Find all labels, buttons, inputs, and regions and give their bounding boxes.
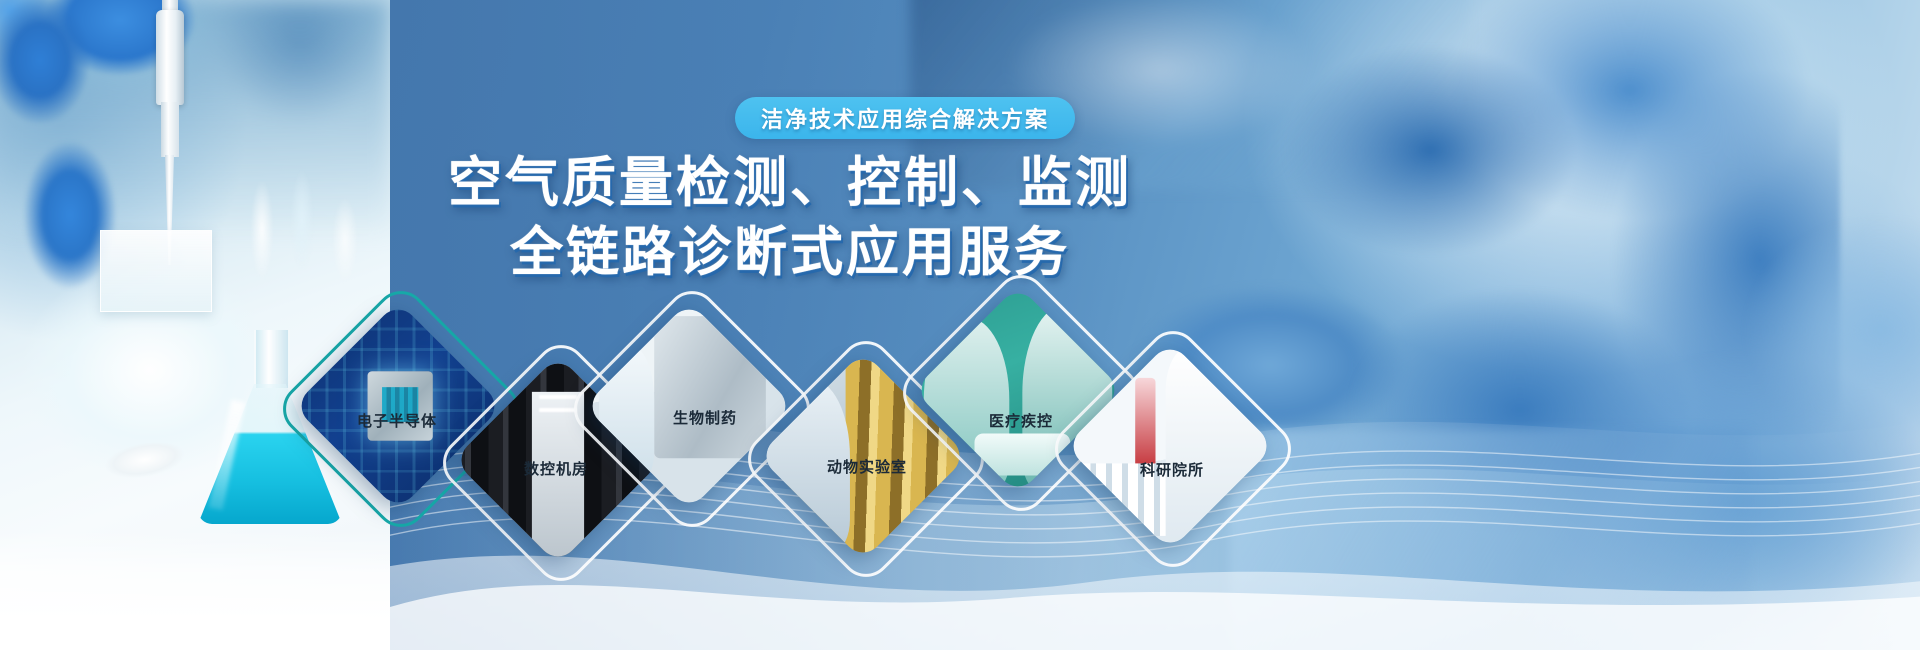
right-lab-photo	[390, 0, 1920, 650]
headline-block: 空气质量检测、控制、监测 全链路诊断式应用服务	[440, 148, 1140, 288]
subtitle-badge: 洁净技术应用综合解决方案	[735, 97, 1075, 139]
photo-vignette	[390, 0, 1920, 650]
card-label-pharma[interactable]: 生物制药	[673, 407, 737, 428]
card-label-animal-lab[interactable]: 动物实验室	[827, 456, 907, 477]
test-tubes-decor	[240, 120, 390, 340]
pipette-icon	[150, 10, 188, 260]
card-label-server-room[interactable]: 数控机房	[524, 458, 588, 479]
card-label-research[interactable]: 科研院所	[1140, 459, 1204, 480]
lab-bench-decor	[0, 530, 390, 650]
headline-line-2: 全链路诊断式应用服务	[440, 218, 1140, 288]
lab-dish-decor	[100, 230, 212, 312]
subtitle-badge-label: 洁净技术应用综合解决方案	[761, 102, 1049, 134]
headline-line-1: 空气质量检测、控制、监测	[440, 148, 1140, 218]
card-label-semiconductor[interactable]: 电子半导体	[357, 410, 437, 431]
left-lab-photo	[0, 0, 390, 650]
card-label-medical[interactable]: 医疗疾控	[989, 410, 1053, 431]
hero-banner: 洁净技术应用综合解决方案 空气质量检测、控制、监测 全链路诊断式应用服务 电子半…	[0, 0, 1920, 650]
